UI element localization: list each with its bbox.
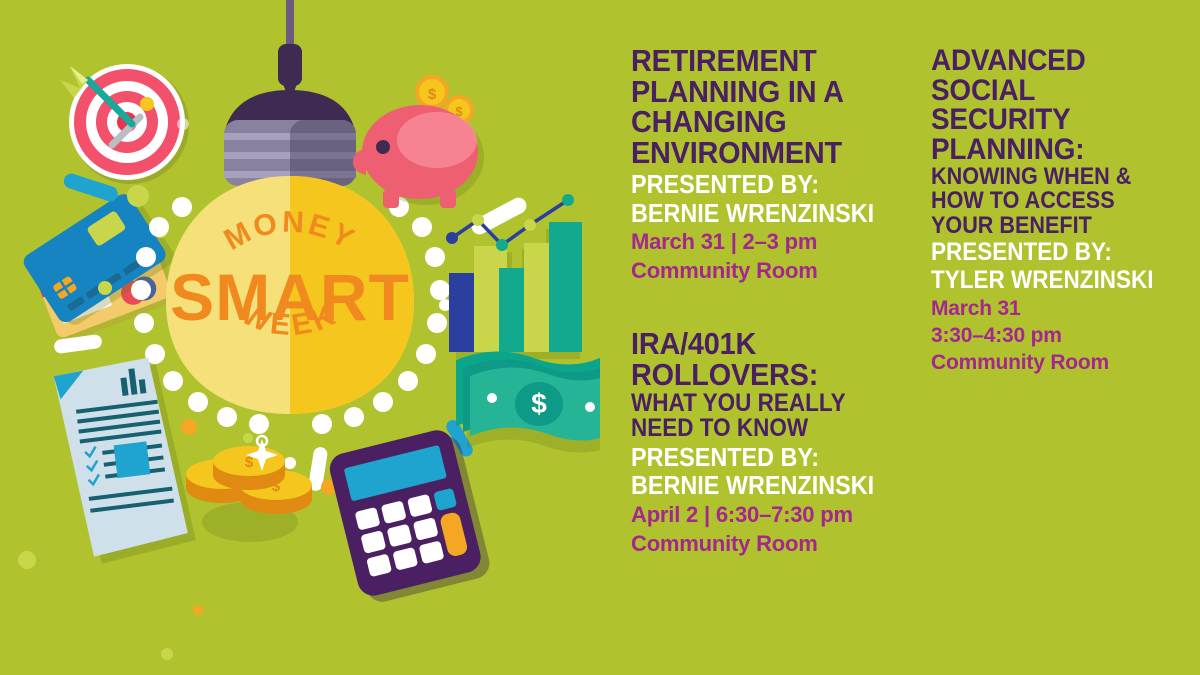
event-location: Community Room <box>631 531 916 557</box>
event-subtitle: WHAT YOU REALLY NEED TO KNOW <box>631 391 888 442</box>
presenter-name: BERNIE WRENZINSKI <box>631 472 888 499</box>
event-subtitle: KNOWING WHEN & HOW TO ACCESS YOUR BENEFI… <box>931 165 1167 238</box>
svg-text:$: $ <box>428 86 437 103</box>
event-location: Community Room <box>631 258 916 284</box>
column-left: RETIREMENT PLANNING IN A CHANGING ENVIRO… <box>631 46 916 556</box>
presenter-name: BERNIE WRENZINSKI <box>631 200 888 227</box>
event-title: ADVANCED SOCIAL SECURITY PLANNING: <box>931 46 1175 165</box>
event-location: Community Room <box>931 351 1193 375</box>
poster-canvas: MONEY SMART WEEK $ $ $ <box>0 0 1200 675</box>
event-datetime: April 2 | 6:30–7:30 pm <box>631 502 916 528</box>
event-title: RETIREMENT PLANNING IN A CHANGING ENVIRO… <box>631 46 896 169</box>
presented-by-label: PRESENTED BY: <box>631 171 888 198</box>
event-date: March 31 <box>931 297 1193 321</box>
presented-by-label: PRESENTED BY: <box>931 240 1167 266</box>
money-smart-week-illustration: MONEY SMART WEEK $ $ $ <box>0 0 600 675</box>
bar-5 <box>549 222 582 352</box>
column-right: ADVANCED SOCIAL SECURITY PLANNING: KNOWI… <box>931 46 1193 376</box>
event-card-advanced-social-security: ADVANCED SOCIAL SECURITY PLANNING: KNOWI… <box>931 46 1193 376</box>
event-card-ira-401k-rollovers: IRA/401K ROLLOVERS: WHAT YOU REALLY NEED… <box>631 329 916 556</box>
presenter-name: TYLER WRENZINSKI <box>931 268 1167 294</box>
svg-text:$: $ <box>531 388 547 419</box>
event-card-retirement-planning: RETIREMENT PLANNING IN A CHANGING ENVIRO… <box>631 46 916 283</box>
event-time-range: 3:30–4:30 pm <box>931 324 1193 348</box>
presented-by-label: PRESENTED BY: <box>631 444 888 471</box>
event-datetime: March 31 | 2–3 pm <box>631 229 916 255</box>
event-title: IRA/401K ROLLOVERS: <box>631 329 896 390</box>
dollar-bills-icon: $ <box>456 351 600 452</box>
